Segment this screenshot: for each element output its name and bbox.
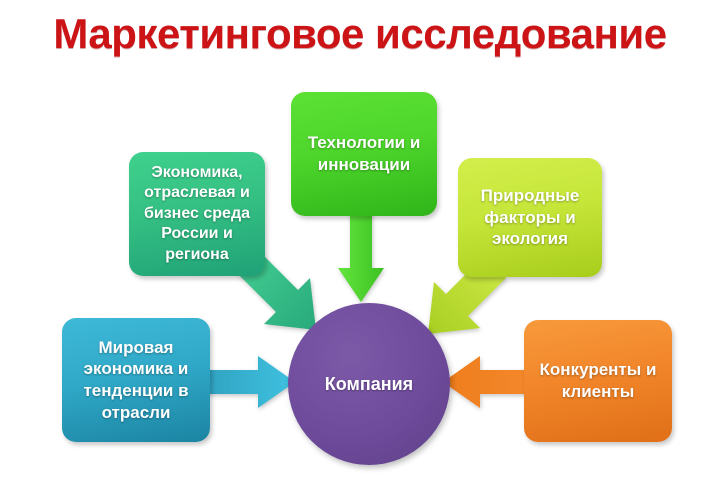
node-technology-label: Технологии и инновации — [299, 132, 429, 176]
hub-company[interactable]: Компания — [288, 303, 450, 465]
hub-company-label: Компания — [325, 374, 413, 395]
arrow-world-economy-to-hub — [196, 354, 296, 410]
node-economy[interactable]: Экономика, отраслевая и бизнес среда Рос… — [129, 152, 265, 276]
node-world-economy[interactable]: Мировая экономика и тенденции в отрасли — [62, 318, 210, 442]
node-nature-label: Природные факторы и экология — [466, 185, 594, 250]
page-title: Маркетинговое исследование — [0, 12, 720, 56]
node-technology[interactable]: Технологии и инновации — [291, 92, 437, 216]
node-world-economy-label: Мировая экономика и тенденции в отрасли — [70, 337, 202, 424]
arrow-technology-to-hub — [337, 206, 385, 304]
node-competitors-label: Конкуренты и клиенты — [532, 359, 664, 403]
diagram-canvas: Маркетинговое исследование — [0, 0, 720, 480]
node-nature[interactable]: Природные факторы и экология — [458, 158, 602, 277]
node-competitors[interactable]: Конкуренты и клиенты — [524, 320, 672, 442]
node-economy-label: Экономика, отраслевая и бизнес среда Рос… — [137, 163, 257, 265]
